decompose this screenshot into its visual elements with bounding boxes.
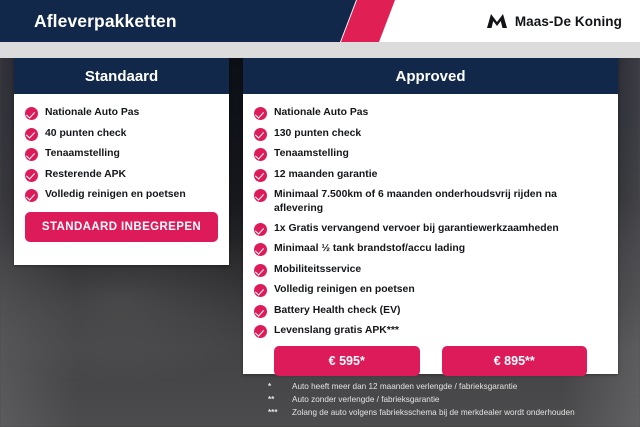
feature-label: Levenslang gratis APK*** — [274, 324, 399, 338]
footnote-text: Auto zonder verlengde / fabrieksgarantie — [292, 394, 439, 405]
feature-label: Resterende APK — [45, 168, 126, 182]
card-title-standaard: Standaard — [14, 58, 229, 94]
price-button-2[interactable]: € 895** — [442, 346, 588, 376]
feature-item: Resterende APK — [25, 168, 218, 182]
price-button-row: € 595*€ 895** — [254, 346, 607, 376]
header-grey-band — [0, 42, 640, 58]
footnote-row: *Auto heeft meer dan 12 maanden verlengd… — [268, 381, 628, 392]
brand-name: Maas-De Koning — [515, 14, 622, 29]
price-button-1[interactable]: € 595* — [274, 346, 420, 376]
check-circle-icon — [254, 243, 267, 256]
footnote-marker: *** — [268, 407, 286, 418]
feature-item: 12 maanden garantie — [254, 168, 607, 182]
feature-label: 12 maanden garantie — [274, 168, 377, 182]
footnotes: *Auto heeft meer dan 12 maanden verlengd… — [268, 381, 628, 420]
footnote-marker: * — [268, 381, 286, 392]
package-card-approved: Approved Nationale Auto Pas130 punten ch… — [243, 58, 618, 374]
card-body-approved: Nationale Auto Pas130 punten checkTenaam… — [243, 94, 618, 386]
check-circle-icon — [254, 148, 267, 161]
standaard-inbegrepen-button[interactable]: STANDAARD INBEGREPEN — [25, 212, 218, 242]
feature-label: 40 punten check — [45, 127, 126, 141]
feature-label: 130 punten check — [274, 127, 361, 141]
feature-label: Battery Health check (EV) — [274, 304, 400, 318]
feature-label: Minimaal 7.500km of 6 maanden onderhouds… — [274, 188, 607, 215]
feature-label: Nationale Auto Pas — [45, 106, 139, 120]
feature-item: 1x Gratis vervangend vervoer bij garanti… — [254, 222, 607, 236]
feature-label: Tenaamstelling — [274, 147, 349, 161]
feature-item: 130 punten check — [254, 127, 607, 141]
feature-item: Minimaal ½ tank brandstof/accu lading — [254, 242, 607, 256]
feature-item: Levenslang gratis APK*** — [254, 324, 607, 338]
feature-item: Tenaamstelling — [25, 147, 218, 161]
brand-logo: Maas-De Koning — [486, 0, 622, 42]
feature-label: 1x Gratis vervangend vervoer bij garanti… — [274, 222, 559, 236]
feature-label: Volledig reinigen en poetsen — [45, 188, 186, 202]
check-circle-icon — [254, 325, 267, 338]
card-body-standaard: Nationale Auto Pas40 punten checkTenaams… — [14, 94, 229, 252]
feature-list-approved: Nationale Auto Pas130 punten checkTenaam… — [254, 106, 607, 338]
check-circle-icon — [254, 264, 267, 277]
check-circle-icon — [254, 223, 267, 236]
check-circle-icon — [25, 107, 38, 120]
maas-de-koning-m-logo-icon — [486, 13, 508, 29]
check-circle-icon — [254, 284, 267, 297]
check-circle-icon — [25, 189, 38, 202]
feature-label: Volledig reinigen en poetsen — [274, 283, 415, 297]
check-circle-icon — [254, 169, 267, 182]
footnote-text: Auto heeft meer dan 12 maanden verlengde… — [292, 381, 517, 392]
footnote-marker: ** — [268, 394, 286, 405]
feature-item: Mobiliteitsservice — [254, 263, 607, 277]
footnote-row: ***Zolang de auto volgens fabrieksschema… — [268, 407, 628, 418]
feature-item: Nationale Auto Pas — [254, 106, 607, 120]
feature-item: Tenaamstelling — [254, 147, 607, 161]
package-card-standaard: Standaard Nationale Auto Pas40 punten ch… — [14, 58, 229, 265]
feature-item: Volledig reinigen en poetsen — [25, 188, 218, 202]
feature-item: Minimaal 7.500km of 6 maanden onderhouds… — [254, 188, 607, 215]
page-title: Afleverpakketten — [34, 0, 177, 42]
feature-item: 40 punten check — [25, 127, 218, 141]
feature-label: Minimaal ½ tank brandstof/accu lading — [274, 242, 465, 256]
check-circle-icon — [254, 128, 267, 141]
feature-item: Volledig reinigen en poetsen — [254, 283, 607, 297]
check-circle-icon — [254, 189, 267, 202]
page-header: Afleverpakketten Maas-De Koning — [0, 0, 640, 42]
check-circle-icon — [254, 305, 267, 318]
check-circle-icon — [25, 128, 38, 141]
feature-label: Tenaamstelling — [45, 147, 120, 161]
footnote-row: **Auto zonder verlengde / fabrieksgarant… — [268, 394, 628, 405]
check-circle-icon — [25, 148, 38, 161]
check-circle-icon — [25, 169, 38, 182]
footnote-text: Zolang de auto volgens fabrieksschema bi… — [292, 407, 575, 418]
feature-item: Nationale Auto Pas — [25, 106, 218, 120]
check-circle-icon — [254, 107, 267, 120]
feature-label: Mobiliteitsservice — [274, 263, 361, 277]
card-title-approved: Approved — [243, 58, 618, 94]
feature-label: Nationale Auto Pas — [274, 106, 368, 120]
feature-list-standaard: Nationale Auto Pas40 punten checkTenaams… — [25, 106, 218, 202]
feature-item: Battery Health check (EV) — [254, 304, 607, 318]
